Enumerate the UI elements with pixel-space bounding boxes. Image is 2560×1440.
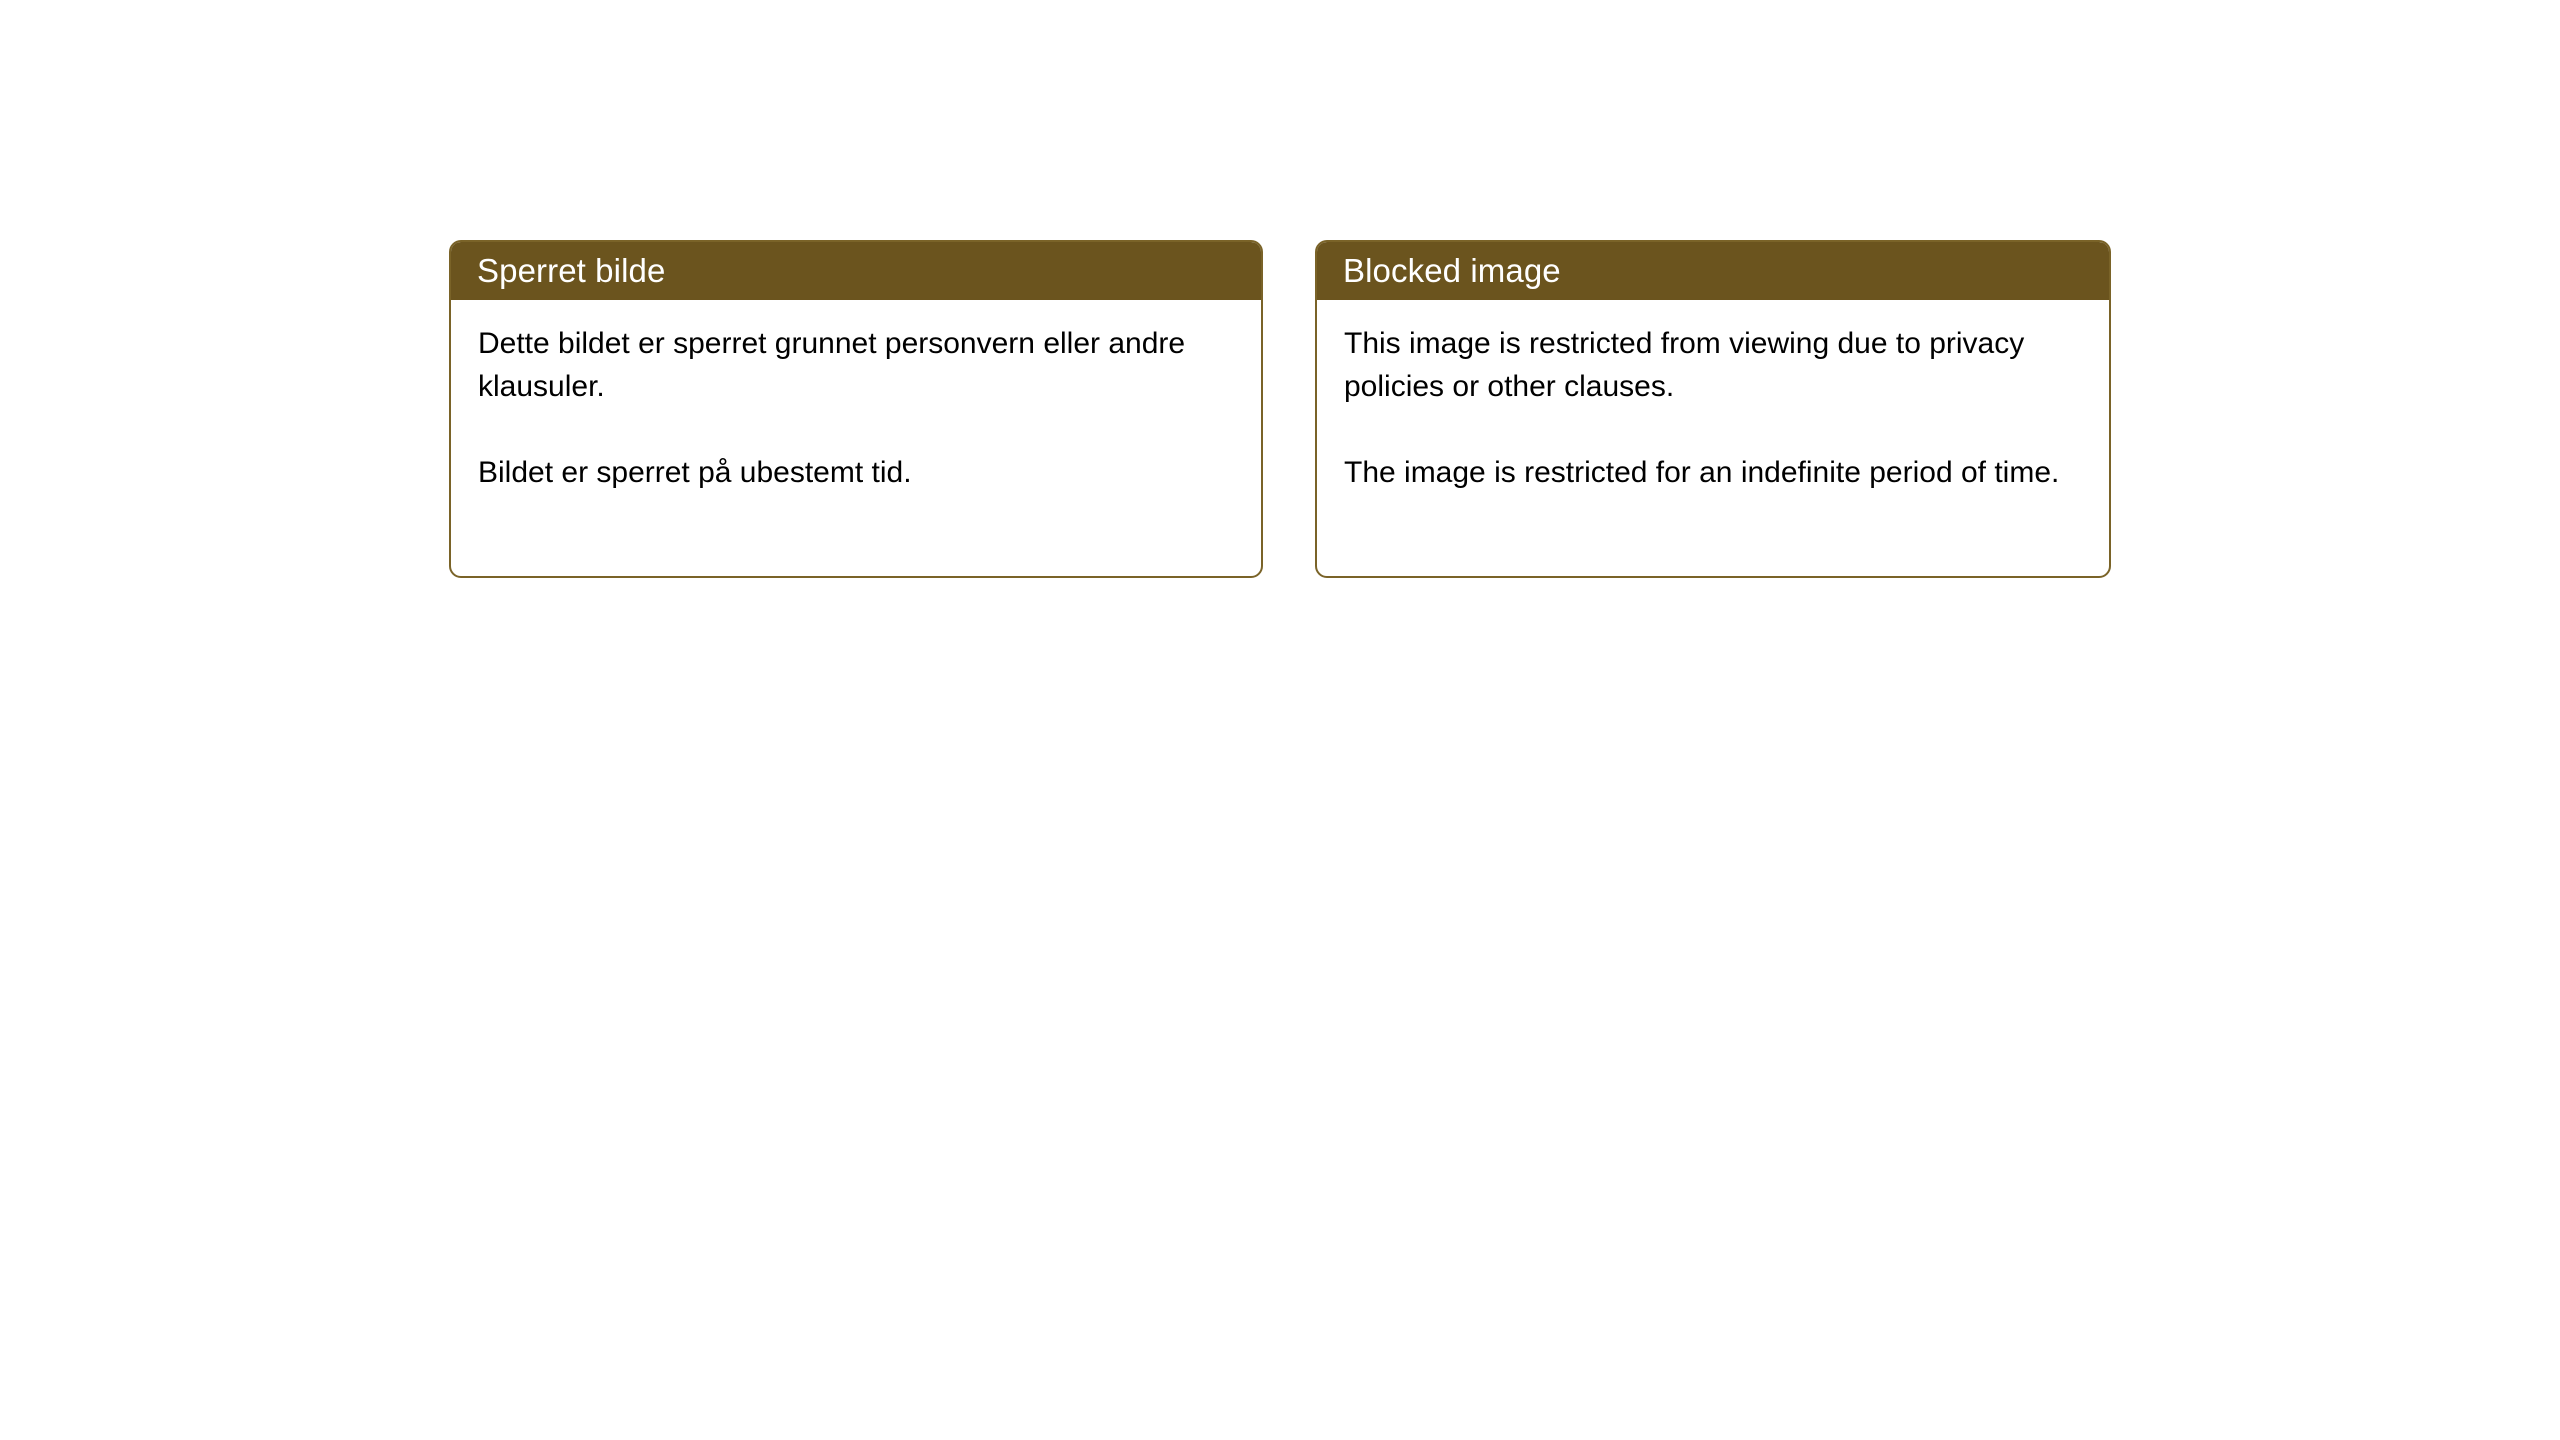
notice-paragraph-duration-norwegian: Bildet er sperret på ubestemt tid. [478,451,1235,494]
blocked-image-notice-english: Blocked image This image is restricted f… [1315,240,2111,578]
panel-header-english: Blocked image [1315,240,2111,300]
notice-paragraph-duration-english: The image is restricted for an indefinit… [1344,451,2083,494]
panel-title-norwegian: Sperret bilde [477,254,665,287]
page-canvas: Sperret bilde Dette bildet er sperret gr… [0,0,2560,1440]
panel-header-norwegian: Sperret bilde [449,240,1263,300]
panel-body-norwegian: Dette bildet er sperret grunnet personve… [451,300,1261,494]
notice-paragraph-reason-norwegian: Dette bildet er sperret grunnet personve… [478,322,1235,408]
blocked-image-notice-norwegian: Sperret bilde Dette bildet er sperret gr… [449,240,1263,578]
panel-title-english: Blocked image [1343,254,1561,287]
panel-body-english: This image is restricted from viewing du… [1317,300,2109,494]
notice-paragraph-reason-english: This image is restricted from viewing du… [1344,322,2083,408]
